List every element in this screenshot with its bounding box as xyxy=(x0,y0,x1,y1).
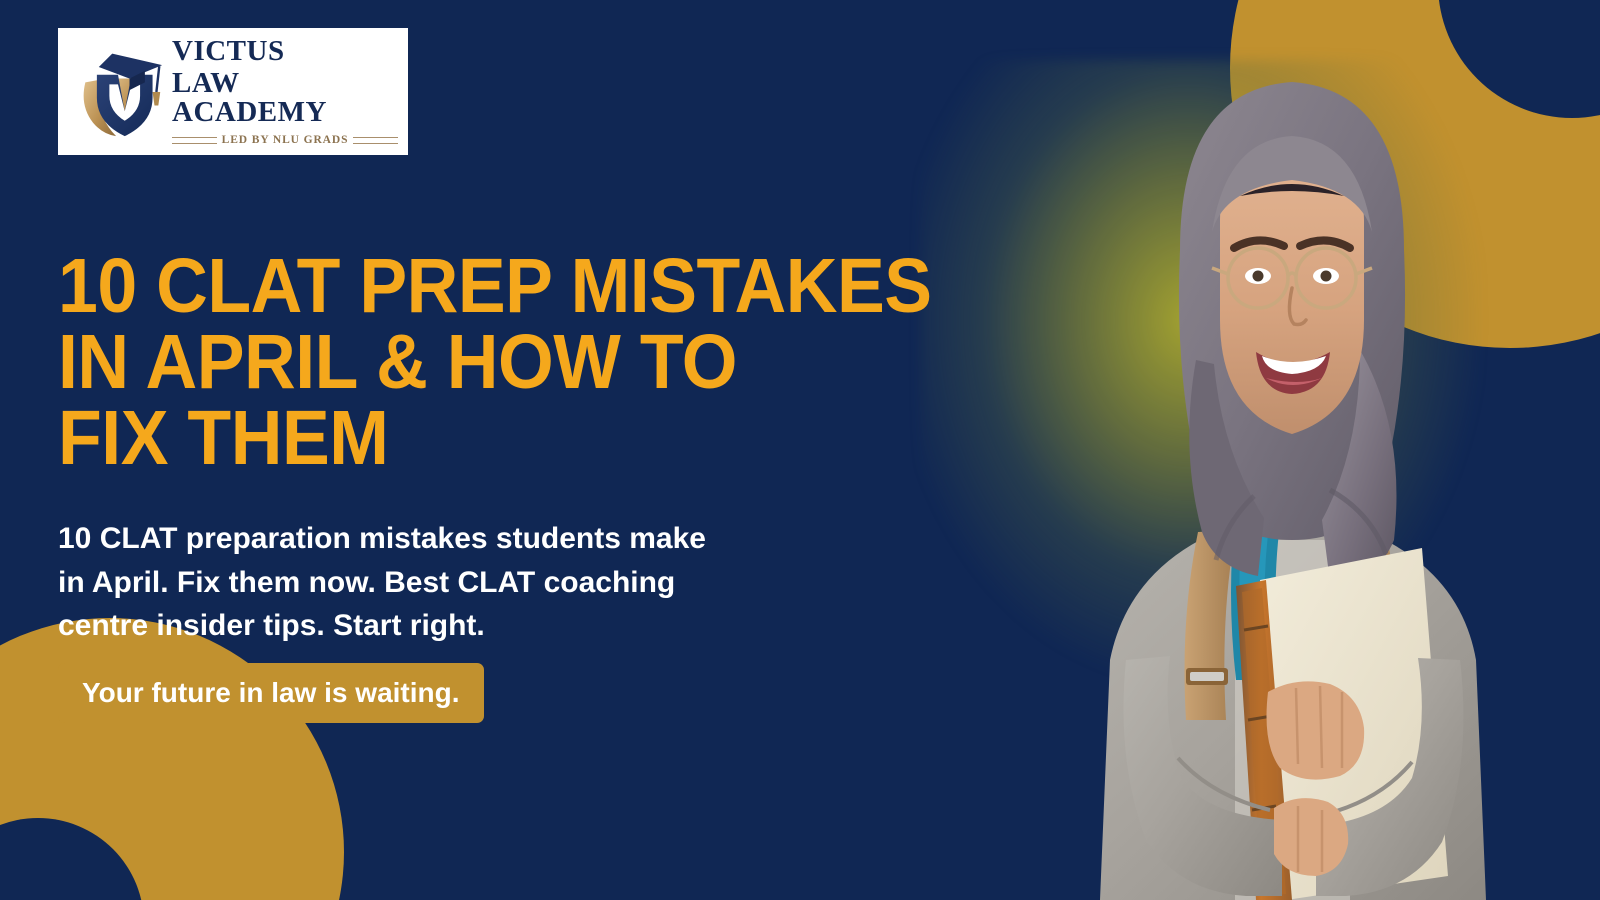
promo-banner: VICTUS LAW ACADEMY LED BY NLU GRADS 10 C… xyxy=(0,0,1600,900)
headline-line-3: FIX THEM xyxy=(58,400,923,476)
subheading-text: 10 CLAT preparation mistakes students ma… xyxy=(58,517,908,648)
subheading-line-1: 10 CLAT preparation mistakes students ma… xyxy=(58,517,908,561)
cta-button[interactable]: Your future in law is waiting. xyxy=(58,663,484,723)
headline-line-1: 10 CLAT PREP MISTAKES xyxy=(58,248,923,324)
headline-line-2: IN APRIL & HOW TO xyxy=(58,324,923,400)
logo-name-line1: VICTUS xyxy=(172,37,398,66)
student-photo xyxy=(880,0,1600,900)
tagline-rule-right xyxy=(353,137,398,144)
graduation-cap-shield-icon xyxy=(70,42,166,142)
page-title: 10 CLAT PREP MISTAKES IN APRIL & HOW TO … xyxy=(58,248,923,477)
logo-tagline-row: LED BY NLU GRADS xyxy=(172,134,398,146)
logo-name-line2: LAW ACADEMY xyxy=(172,69,398,127)
tagline-rule-left xyxy=(172,137,217,144)
subheading-line-3: centre insider tips. Start right. xyxy=(58,604,908,648)
logo-wordmark: VICTUS LAW ACADEMY LED BY NLU GRADS xyxy=(172,37,398,146)
brand-logo[interactable]: VICTUS LAW ACADEMY LED BY NLU GRADS xyxy=(58,28,408,155)
student-illustration xyxy=(1030,20,1550,900)
subheading-line-2: in April. Fix them now. Best CLAT coachi… xyxy=(58,561,908,605)
logo-tagline: LED BY NLU GRADS xyxy=(222,134,349,146)
